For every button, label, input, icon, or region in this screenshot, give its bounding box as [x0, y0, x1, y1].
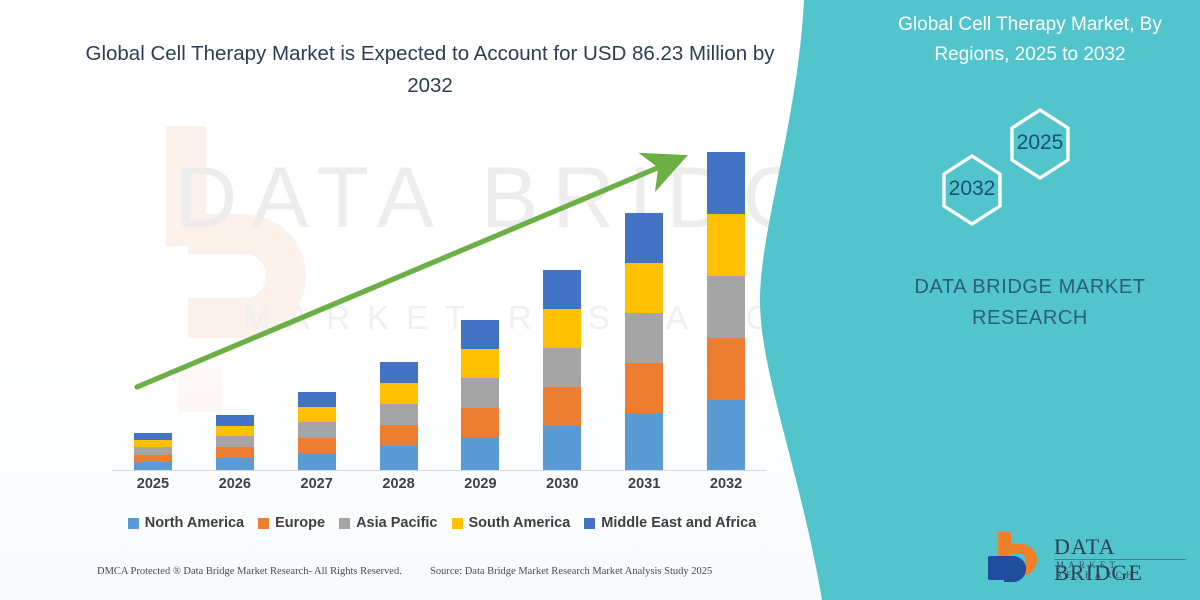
bar-column-2026 — [194, 140, 276, 470]
bar-segment-middle-east-and-africa[interactable] — [380, 362, 418, 383]
bar-segment-europe[interactable] — [625, 363, 663, 413]
legend-label: Asia Pacific — [356, 515, 437, 531]
infographic-canvas: DATA BRIDGE MARKET RESEARCH Global Cell … — [0, 0, 1200, 600]
legend-swatch-icon — [128, 518, 139, 529]
bar-segment-europe[interactable] — [461, 408, 499, 437]
brand-panel-name: DATA BRIDGE MARKET RESEARCH — [880, 272, 1180, 334]
bar-segment-asia-pacific[interactable] — [625, 313, 663, 363]
legend-label: North America — [145, 515, 244, 531]
bar-segment-europe[interactable] — [543, 387, 581, 426]
bar-segment-south-america[interactable] — [216, 426, 254, 437]
x-axis-line — [112, 470, 767, 471]
legend-item-south-america[interactable]: South America — [452, 515, 571, 531]
hexagon-label-2025: 2025 — [1000, 131, 1080, 155]
x-axis-label-2030: 2030 — [521, 476, 603, 492]
bar-column-2028 — [358, 140, 440, 470]
bar-segment-middle-east-and-africa[interactable] — [298, 392, 336, 407]
bar-segment-south-america[interactable] — [625, 263, 663, 313]
x-axis-label-2025: 2025 — [112, 476, 194, 492]
bar-segment-north-america[interactable] — [625, 413, 663, 470]
stacked-bar[interactable] — [134, 433, 172, 470]
bar-segment-north-america[interactable] — [707, 400, 745, 470]
bar-segment-europe[interactable] — [707, 338, 745, 400]
year-hexagons: 2032 2025 — [920, 100, 1140, 230]
bar-segment-south-america[interactable] — [543, 309, 581, 348]
bar-column-2031 — [603, 140, 685, 470]
bar-column-2032 — [685, 140, 767, 470]
stacked-bar[interactable] — [543, 270, 581, 470]
chart-title: Global Cell Therapy Market is Expected t… — [60, 38, 800, 102]
bar-column-2025 — [112, 140, 194, 470]
x-axis-label-2026: 2026 — [194, 476, 276, 492]
legend-item-asia-pacific[interactable]: Asia Pacific — [339, 515, 437, 531]
bar-segment-north-america[interactable] — [543, 426, 581, 470]
bar-segment-europe[interactable] — [298, 438, 336, 453]
bar-segment-north-america[interactable] — [380, 446, 418, 470]
x-axis-label-2027: 2027 — [276, 476, 358, 492]
bar-segment-north-america[interactable] — [461, 437, 499, 470]
legend-label: Middle East and Africa — [601, 515, 756, 531]
bar-segment-north-america[interactable] — [298, 453, 336, 470]
x-axis-label-2028: 2028 — [358, 476, 440, 492]
bar-segment-europe[interactable] — [380, 425, 418, 446]
brand-panel-title: Global Cell Therapy Market, By Regions, … — [870, 10, 1190, 70]
legend-swatch-icon — [452, 518, 463, 529]
brand-panel-content: Global Cell Therapy Market, By Regions, … — [760, 0, 1200, 600]
bar-segment-north-america[interactable] — [216, 458, 254, 470]
db-monogram-icon — [988, 528, 1048, 584]
bar-column-2030 — [521, 140, 603, 470]
bar-segment-south-america[interactable] — [380, 383, 418, 404]
bar-segment-middle-east-and-africa[interactable] — [134, 433, 172, 440]
chart-legend: North AmericaEuropeAsia PacificSouth Ame… — [112, 512, 772, 534]
bar-segment-north-america[interactable] — [134, 462, 172, 470]
bar-segment-asia-pacific[interactable] — [216, 436, 254, 447]
bar-segment-south-america[interactable] — [461, 349, 499, 378]
bar-segment-europe[interactable] — [134, 455, 172, 462]
stacked-bar[interactable] — [216, 415, 254, 470]
legend-item-middle-east-and-africa[interactable]: Middle East and Africa — [584, 515, 756, 531]
stacked-bar[interactable] — [461, 320, 499, 470]
bar-segment-asia-pacific[interactable] — [298, 422, 336, 437]
bar-segment-asia-pacific[interactable] — [380, 404, 418, 425]
bar-column-2029 — [440, 140, 522, 470]
footer-bar: DMCA Protected ® Data Bridge Market Rese… — [0, 566, 880, 588]
x-axis-label-2031: 2031 — [603, 476, 685, 492]
hexagon-label-2032: 2032 — [932, 177, 1012, 201]
legend-item-north-america[interactable]: North America — [128, 515, 244, 531]
legend-item-europe[interactable]: Europe — [258, 515, 325, 531]
legend-label: Europe — [275, 515, 325, 531]
bar-segment-middle-east-and-africa[interactable] — [543, 270, 581, 309]
footer-copyright: DMCA Protected ® Data Bridge Market Rese… — [97, 566, 402, 577]
legend-label: South America — [469, 515, 571, 531]
legend-swatch-icon — [339, 518, 350, 529]
logo-secondary-text: MARKET RESEARCH — [1056, 560, 1200, 580]
bar-segment-middle-east-and-africa[interactable] — [216, 415, 254, 426]
bar-chart-plot-area — [112, 140, 767, 470]
data-bridge-logo: DATA BRIDGE MARKET RESEARCH — [988, 528, 1200, 588]
footer-source: Source: Data Bridge Market Research Mark… — [430, 566, 712, 577]
bar-segment-south-america[interactable] — [298, 407, 336, 422]
bar-segment-europe[interactable] — [216, 447, 254, 458]
hexagon-outlines-icon — [920, 100, 1140, 230]
stacked-bar[interactable] — [707, 152, 745, 470]
bar-segment-middle-east-and-africa[interactable] — [461, 320, 499, 349]
bar-segment-middle-east-and-africa[interactable] — [707, 152, 745, 214]
bar-segment-south-america[interactable] — [134, 440, 172, 447]
legend-swatch-icon — [258, 518, 269, 529]
x-axis-label-2029: 2029 — [440, 476, 522, 492]
bar-segment-asia-pacific[interactable] — [543, 348, 581, 387]
stacked-bar[interactable] — [625, 213, 663, 470]
stacked-bar[interactable] — [380, 362, 418, 470]
bar-segment-asia-pacific[interactable] — [134, 447, 172, 454]
legend-swatch-icon — [584, 518, 595, 529]
brand-panel: Global Cell Therapy Market, By Regions, … — [760, 0, 1200, 600]
x-axis-labels: 20252026202720282029203020312032 — [112, 476, 767, 500]
stacked-bar[interactable] — [298, 392, 336, 470]
bar-segment-south-america[interactable] — [707, 214, 745, 276]
bar-segment-middle-east-and-africa[interactable] — [625, 213, 663, 263]
x-axis-label-2032: 2032 — [685, 476, 767, 492]
bar-segment-asia-pacific[interactable] — [707, 276, 745, 338]
bar-column-2027 — [276, 140, 358, 470]
bar-segment-asia-pacific[interactable] — [461, 378, 499, 407]
